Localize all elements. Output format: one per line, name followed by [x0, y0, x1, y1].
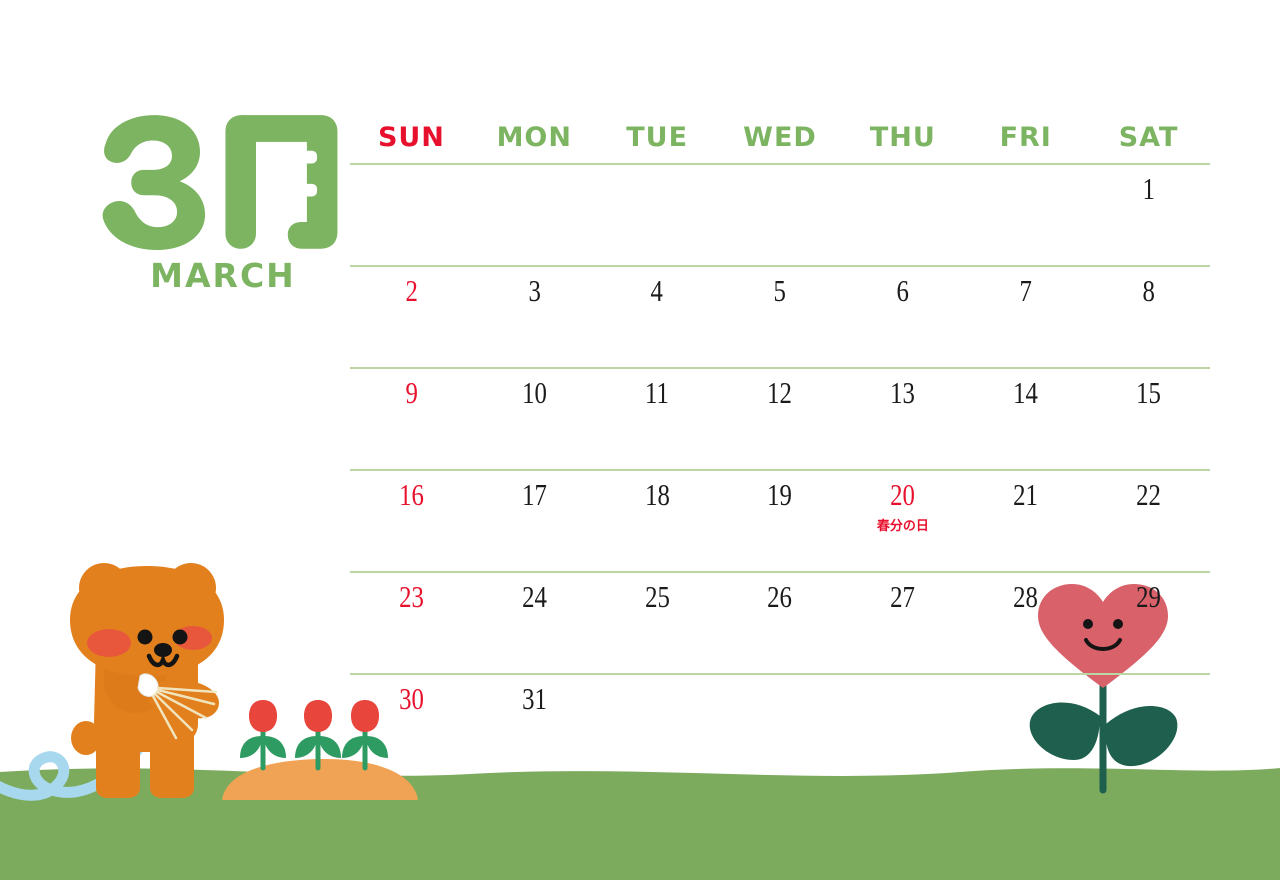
- day-number: 16: [399, 478, 424, 511]
- day-cell[interactable]: 8: [1087, 267, 1210, 367]
- day-number: 9: [405, 376, 417, 409]
- day-cell[interactable]: 11: [596, 369, 719, 469]
- day-cell[interactable]: [473, 165, 596, 265]
- bear-cheek-right: [174, 626, 212, 650]
- day-cell[interactable]: 14: [964, 369, 1087, 469]
- bear-eye-left: [138, 630, 153, 645]
- day-number: 28: [1013, 580, 1038, 613]
- day-number: 14: [1013, 376, 1038, 409]
- day-number: 19: [768, 478, 793, 511]
- day-cell[interactable]: 23: [350, 573, 473, 673]
- day-cell[interactable]: [1087, 675, 1210, 775]
- day-number: 30: [399, 682, 424, 715]
- bear-tail: [71, 721, 101, 755]
- calendar-week-row: 9 10 11 12 13 14 15: [350, 367, 1210, 469]
- day-cell[interactable]: 31: [473, 675, 596, 775]
- day-number: 25: [645, 580, 670, 613]
- day-cell[interactable]: 24: [473, 573, 596, 673]
- day-number: 22: [1136, 478, 1161, 511]
- calendar-week-row: 23 24 25 26 27 28 29: [350, 571, 1210, 673]
- day-cell[interactable]: 19: [719, 471, 842, 571]
- day-cell[interactable]: [964, 165, 1087, 265]
- calendar-week-row: 30 31: [350, 673, 1210, 775]
- day-cell[interactable]: 7: [964, 267, 1087, 367]
- day-number: 7: [1020, 274, 1032, 307]
- bear-ear-left: [79, 563, 129, 613]
- calendar-page: MARCH SUN MON TUE WED THU FRI SAT 1 2 3 …: [0, 0, 1280, 880]
- day-cell[interactable]: 27: [841, 573, 964, 673]
- day-number: 21: [1013, 478, 1038, 511]
- day-cell[interactable]: 9: [350, 369, 473, 469]
- day-number: 29: [1136, 580, 1161, 613]
- day-cell[interactable]: [719, 675, 842, 775]
- day-number: 10: [522, 376, 547, 409]
- calendar-week-row: 1: [350, 163, 1210, 265]
- day-number: 4: [651, 274, 663, 307]
- day-cell[interactable]: 4: [596, 267, 719, 367]
- weekday-header-tue: TUE: [596, 122, 719, 153]
- bear-cheek-left: [87, 629, 131, 657]
- calendar-week-row: 2 3 4 5 6 7 8: [350, 265, 1210, 367]
- day-cell[interactable]: 10: [473, 369, 596, 469]
- day-cell[interactable]: 18: [596, 471, 719, 571]
- day-cell[interactable]: [350, 165, 473, 265]
- day-cell[interactable]: 21: [964, 471, 1087, 571]
- day-number: 23: [399, 580, 424, 613]
- month-kanji-3gatsu: [88, 110, 343, 250]
- day-cell[interactable]: 13: [841, 369, 964, 469]
- garden-hose: [0, 640, 142, 795]
- month-title-block: MARCH: [88, 110, 358, 295]
- day-cell[interactable]: 25: [596, 573, 719, 673]
- weekday-header-fri: FRI: [964, 122, 1087, 153]
- day-number: 2: [405, 274, 417, 307]
- bear-nose: [154, 643, 172, 657]
- day-cell[interactable]: 12: [719, 369, 842, 469]
- day-cell[interactable]: 15: [1087, 369, 1210, 469]
- day-cell[interactable]: [596, 165, 719, 265]
- tulip-1: [240, 700, 286, 768]
- bear-ear-right: [166, 563, 216, 613]
- grass-field: [0, 768, 1280, 880]
- day-number: 1: [1142, 172, 1154, 205]
- tulip-2: [295, 700, 341, 768]
- day-cell[interactable]: 26: [719, 573, 842, 673]
- weekday-header-wed: WED: [719, 122, 842, 153]
- day-number: 8: [1142, 274, 1154, 307]
- water-spray: [153, 688, 216, 738]
- day-number: 24: [522, 580, 547, 613]
- month-name-english: MARCH: [88, 256, 358, 295]
- day-number: 31: [522, 682, 547, 715]
- bear-eye-right: [173, 630, 188, 645]
- day-cell[interactable]: [841, 165, 964, 265]
- day-number: 20: [890, 478, 915, 511]
- day-cell[interactable]: 3: [473, 267, 596, 367]
- day-number: 11: [645, 376, 669, 409]
- weekday-header-sun: SUN: [350, 122, 473, 153]
- holiday-label: 春分の日: [841, 515, 964, 534]
- day-cell[interactable]: 2: [350, 267, 473, 367]
- day-cell[interactable]: [964, 675, 1087, 775]
- day-cell[interactable]: 1: [1087, 165, 1210, 265]
- day-cell-holiday[interactable]: 20 春分の日: [841, 471, 964, 571]
- day-cell[interactable]: [596, 675, 719, 775]
- day-number: 15: [1136, 376, 1161, 409]
- weekday-header-row: SUN MON TUE WED THU FRI SAT: [350, 122, 1210, 163]
- day-number: 17: [522, 478, 547, 511]
- day-cell[interactable]: 17: [473, 471, 596, 571]
- day-cell[interactable]: 22: [1087, 471, 1210, 571]
- day-number: 27: [890, 580, 915, 613]
- day-cell[interactable]: 28: [964, 573, 1087, 673]
- bear-character: [70, 563, 224, 798]
- day-cell[interactable]: 29: [1087, 573, 1210, 673]
- day-number: 18: [645, 478, 670, 511]
- calendar-grid: SUN MON TUE WED THU FRI SAT 1 2 3 4 5 6 …: [350, 122, 1210, 775]
- hose-nozzle: [138, 674, 158, 697]
- day-cell[interactable]: 6: [841, 267, 964, 367]
- day-cell[interactable]: 5: [719, 267, 842, 367]
- day-cell[interactable]: [719, 165, 842, 265]
- day-number: 13: [890, 376, 915, 409]
- weekday-header-sat: SAT: [1087, 122, 1210, 153]
- day-number: 26: [768, 580, 793, 613]
- day-number: 3: [528, 274, 540, 307]
- calendar-week-row: 16 17 18 19 20 春分の日 21 22: [350, 469, 1210, 571]
- weekday-header-thu: THU: [841, 122, 964, 153]
- bear-mouth: [149, 656, 177, 665]
- day-number: 12: [768, 376, 793, 409]
- day-cell[interactable]: 16: [350, 471, 473, 571]
- day-cell[interactable]: [841, 675, 964, 775]
- weekday-header-mon: MON: [473, 122, 596, 153]
- day-number: 6: [897, 274, 909, 307]
- day-cell[interactable]: 30: [350, 675, 473, 775]
- day-number: 5: [774, 274, 786, 307]
